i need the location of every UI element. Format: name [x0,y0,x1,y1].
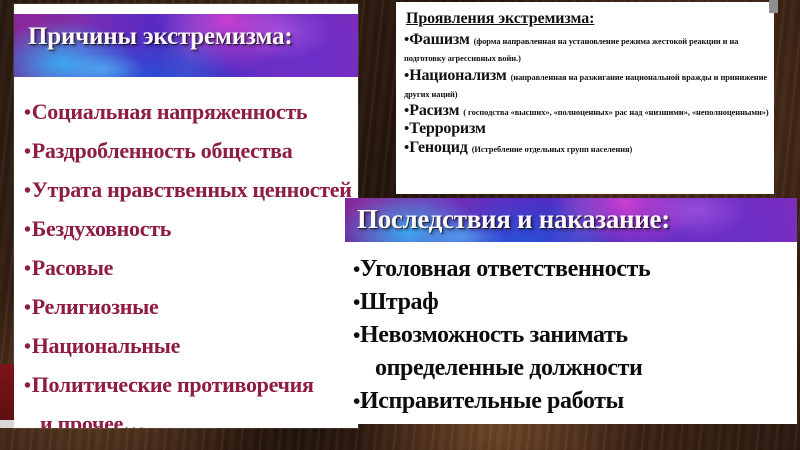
list-item-label: Утрата нравственных ценностей [32,177,352,202]
list-item: •Раздробленность общества [24,132,354,171]
list-item-label: и прочее… [40,411,145,428]
list-item: •Расовые [24,249,354,288]
bullet-icon: • [353,389,360,413]
bullet-icon: • [353,323,360,347]
bullet-icon: • [24,336,31,358]
list-item: •Штраф [353,286,795,319]
consequences-title: Последствия и наказание: [345,198,797,235]
causes-banner: Причины экстремизма: [14,14,358,77]
forms-title: Проявления экстремизма: [396,2,774,28]
list-item-label: Раздробленность общества [32,138,293,163]
list-item: •Национальные [24,327,354,366]
list-item: •Политические противоречия [24,366,354,405]
consequences-banner: Последствия и наказание: [345,198,797,242]
bullet-icon: • [353,290,360,314]
causes-title: Причины экстремизма: [14,14,358,51]
list-item-label: определенные должности [375,355,642,381]
causes-panel: Причины экстремизма: •Социальная напряже… [14,4,358,428]
causes-list: •Социальная напряженность •Раздробленнос… [14,77,358,428]
list-item: и прочее… [24,405,354,428]
list-item: •Религиозные [24,288,354,327]
consequences-list: •Уголовная ответственность •Штраф •Невоз… [345,242,797,418]
list-item-label: Исправительные работы [360,388,624,414]
bullet-icon: • [24,258,31,280]
left-red-accent-bar [0,364,14,420]
term-definition: (Истребление отдельных групп населения) [472,145,633,154]
list-item: •Уголовная ответственность [353,253,795,286]
bullet-icon: • [353,257,360,281]
list-item: •Бездуховность [24,210,354,249]
list-item-label: Социальная напряженность [32,99,307,124]
bullet-icon: • [24,102,31,124]
top-gray-accent-bar [769,0,778,13]
list-item-label: Штраф [360,289,438,315]
list-item: •Невозможность занимать [353,319,795,352]
presentation-slide: Причины экстремизма: •Социальная напряже… [0,0,800,450]
list-item-label: Политические противоречия [32,372,314,397]
list-item: •Фашизм (форма направленная на установле… [404,31,772,66]
list-item: определенные должности [353,352,795,385]
list-item-label: Бездуховность [32,216,171,241]
list-item-label: Национальные [32,333,180,358]
term-label: Расизм [409,102,459,119]
left-gray-accent-bar [0,420,14,428]
list-item: •Национализм (направленная на разжигание… [404,67,772,102]
list-item-label: Религиозные [32,294,159,319]
list-item-label: Расовые [32,255,113,280]
list-item: •Исправительные работы [353,385,795,418]
forms-panel: Проявления экстремизма: •Фашизм (форма н… [396,2,774,194]
list-item: •Социальная напряженность [24,93,354,132]
bullet-icon: • [24,180,31,202]
bullet-icon: • [24,297,31,319]
list-item: •Утрата нравственных ценностей [24,171,354,210]
consequences-panel: Последствия и наказание: •Уголовная отве… [345,198,797,424]
list-item-label: Невозможность занимать [360,322,628,348]
term-definition: ( господства «высших», «полноценных» рас… [463,108,768,117]
term-label: Фашизм [409,31,469,48]
forms-list: •Фашизм (форма направленная на установле… [396,28,774,156]
list-item: •Расизм ( господства «высших», «полноцен… [404,102,772,119]
list-item-label: Уголовная ответственность [360,256,650,282]
bullet-icon: • [24,219,31,241]
term-label: Национализм [409,67,506,84]
bullet-icon: • [24,375,31,397]
list-item: •Терроризм [404,120,772,137]
term-label: Терроризм [409,120,485,137]
term-label: Геноцид [409,139,467,156]
bullet-icon: • [24,141,31,163]
list-item: •Геноцид (Истребление отдельных групп на… [404,139,772,156]
